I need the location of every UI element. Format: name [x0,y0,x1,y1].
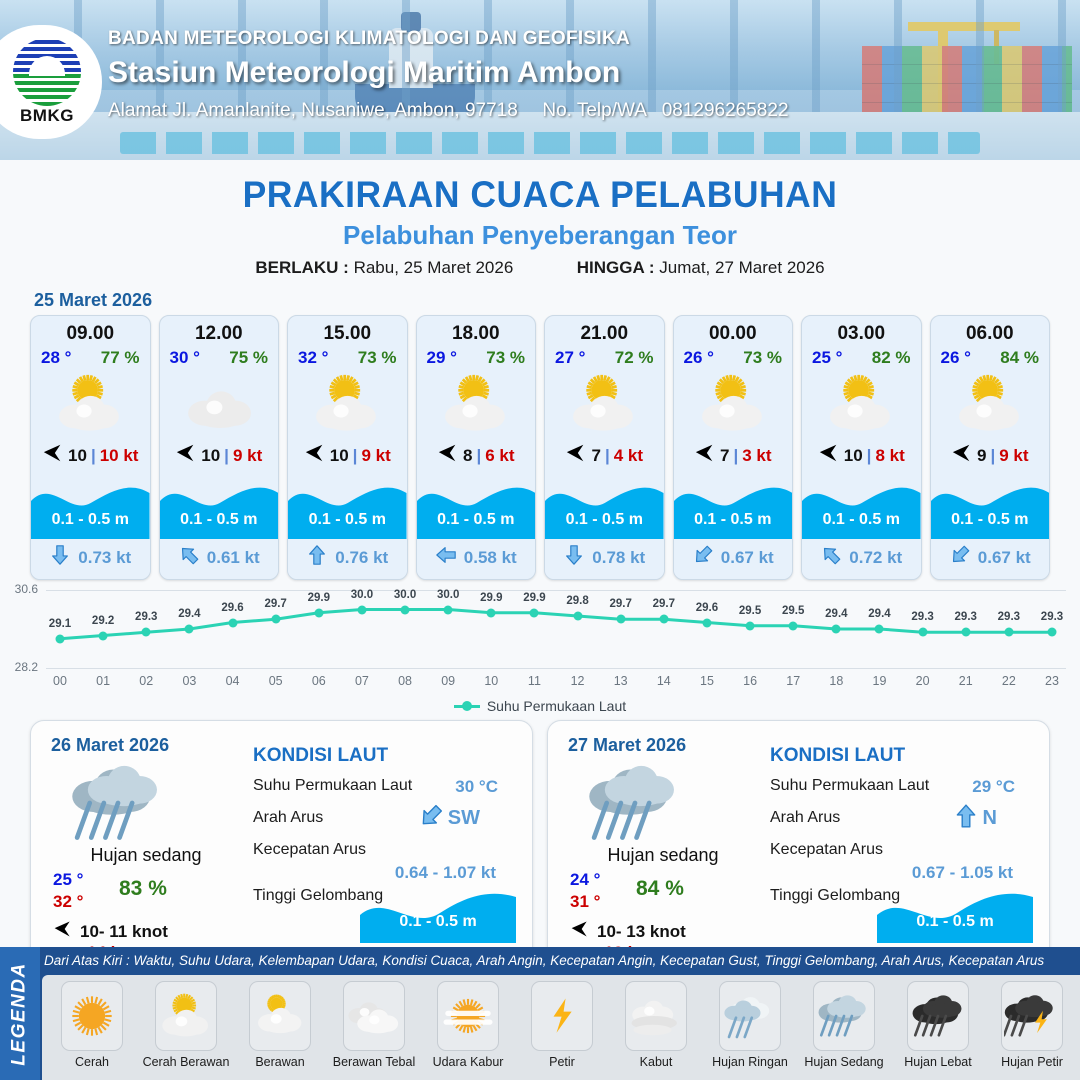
chart-x-tick: 11 [528,674,541,688]
chart-point-label: 29.1 [49,618,71,630]
header-chairs-illustration [120,132,980,154]
card-current-speed: 0.78 kt [592,548,645,568]
title-block: PRAKIRAAN CUACA PELABUHAN Pelabuhan Peny… [0,160,1080,278]
card-wind-separator: | [733,446,738,466]
thunderstorm-icon [1001,981,1063,1051]
arrow-up-left-icon [820,544,842,571]
card-wind-speed: 9 [977,446,986,466]
sst-label: Suhu Permukaan Laut [253,777,412,795]
chart-x-tick: 01 [96,674,110,688]
chart-point-label: 29.9 [523,592,545,604]
haze-icon [437,981,499,1051]
partly-cloudy-icon [931,368,1050,440]
chart-point-label: 29.8 [566,595,588,607]
card-gust-speed: 9 kt [233,446,262,466]
daily-wind-speed: 10- 11 knot [80,922,168,942]
chart-legend-label: Suhu Permukaan Laut [487,698,626,714]
card-time: 18.00 [417,316,536,345]
chart-legend: Suhu Permukaan Laut [0,698,1080,714]
chart-point-label: 29.3 [998,611,1020,623]
chart-data-point [357,605,366,614]
card-gust-speed: 9 kt [361,446,390,466]
moderate-rain-icon [813,981,875,1051]
card-temperature: 29 ° [427,348,457,368]
valid-to-value: Jumat, 27 Maret 2026 [659,258,824,277]
card-wind-speed: 10 [330,446,349,466]
wind-arrow-nw-icon [951,442,973,469]
valid-from-label: BERLAKU : [255,258,349,277]
chart-data-point [789,621,798,630]
daily-wave-band: 0.1 - 0.5 m [360,887,516,943]
chart-x-tick: 07 [355,674,369,688]
card-temperature: 32 ° [298,348,328,368]
card-current-speed: 0.67 kt [978,548,1031,568]
legend-item-label: Petir [549,1055,575,1069]
chart-data-point [1048,628,1057,637]
card-temperature: 26 ° [684,348,714,368]
card-wave-height: 0.1 - 0.5 m [802,511,921,529]
partly-cloudy-icon [417,368,536,440]
page-header: BMKG BADAN METEOROLOGI KLIMATOLOGI DAN G… [0,0,1080,160]
legend-item: Berawan [234,981,326,1069]
card-current-speed: 0.73 kt [78,548,131,568]
legend-note: Dari Atas Kiri : Waktu, Suhu Udara, Kele… [44,953,1074,968]
chart-x-tick: 16 [743,674,757,688]
sea-conditions-title: KONDISI LAUT [253,745,388,767]
chart-x-tick: 20 [916,674,930,688]
card-wind-speed: 7 [720,446,729,466]
partly-cloudy-icon [802,368,921,440]
chart-x-tick: 09 [441,674,455,688]
card-wave-height: 0.1 - 0.5 m [417,511,536,529]
chart-data-point [99,631,108,640]
legend-item-label: Berawan Tebal [333,1055,415,1069]
chart-point-label: 30.0 [437,589,459,601]
card-wave-band: 0.1 - 0.5 m [802,475,921,539]
card-wind-separator: | [476,446,481,466]
chart-x-tick: 12 [571,674,585,688]
chart-x-tick: 22 [1002,674,1016,688]
hourly-card: 09.00 28 ° 77 % 10 | 10 kt 0.1 - 0.5 m 0… [30,315,151,580]
chart-x-tick: 21 [959,674,973,688]
wind-arrow-nw-icon [437,442,459,469]
chart-x-tick: 08 [398,674,412,688]
legend-item: Hujan Sedang [798,981,890,1069]
chart-legend-marker-icon [454,705,480,708]
chart-line [46,590,1066,668]
chart-x-tick: 03 [182,674,196,688]
card-wave-band: 0.1 - 0.5 m [931,475,1050,539]
chart-point-label: 29.3 [1041,611,1063,623]
chart-x-tick: 14 [657,674,671,688]
card-time: 12.00 [160,316,279,345]
card-current-speed: 0.67 kt [721,548,774,568]
legend-item: Kabut [610,981,702,1069]
daily-temp-max: 32 ° [53,891,83,913]
moderate-rain-icon [580,759,690,847]
bmkg-logo-icon: BMKG [0,25,102,139]
card-time: 00.00 [674,316,793,345]
validity-period: BERLAKU : Rabu, 25 Maret 2026 HINGGA : J… [0,258,1080,278]
daily-condition: Hujan sedang [51,845,241,866]
page-subtitle: Pelabuhan Penyeberangan Teor [0,220,1080,251]
sea-conditions-title: KONDISI LAUT [770,745,905,767]
partly-cloudy-icon [155,981,217,1051]
legend-item: Hujan Lebat [892,981,984,1069]
current-direction-value: SW [448,807,480,830]
chart-data-point [918,628,927,637]
cloudy-icon [160,368,279,440]
station-name: Stasiun Meteorologi Maritim Ambon [108,56,789,90]
valid-from-value: Rabu, 25 Maret 2026 [354,258,514,277]
wind-arrow-nw-icon [42,442,64,469]
arrow-up-icon [953,803,979,834]
sst-chart: 30.628.229.10029.20129.30229.40329.60429… [0,580,1080,714]
card-time: 06.00 [931,316,1050,345]
chart-point-label: 29.4 [825,608,847,620]
legend-item: Hujan Ringan [704,981,796,1069]
legend-item: Hujan Petir [986,981,1078,1069]
legend-item: Cerah Berawan [140,981,232,1069]
chart-data-point [961,628,970,637]
legend-item: Petir [516,981,608,1069]
legend-items: Cerah Cerah Berawan Berawan Berawan Teba… [42,975,1080,1080]
card-gust-speed: 6 kt [485,446,514,466]
legend-item-label: Hujan Sedang [804,1055,883,1069]
sst-value: 29 °C [972,777,1015,797]
current-direction-value: N [983,807,997,830]
arrow-down-left-icon [949,544,971,571]
card-gust-speed: 4 kt [614,446,643,466]
wind-arrow-nw-icon [304,442,326,469]
chart-data-point [314,608,323,617]
heavy-rain-icon [907,981,969,1051]
chart-point-label: 29.9 [308,592,330,604]
daily-humidity: 83 % [119,877,167,901]
legend-bar: LEGENDA Dari Atas Kiri : Waktu, Suhu Uda… [0,947,1080,1080]
arrow-up-icon [306,544,328,571]
chart-point-label: 29.2 [92,615,114,627]
chart-y-tick: 30.6 [15,582,38,596]
chart-data-point [659,615,668,624]
card-wave-band: 0.1 - 0.5 m [674,475,793,539]
legend-side-title-text: LEGENDA [9,962,31,1065]
moderate-rain-icon [63,759,173,847]
chart-x-tick: 06 [312,674,326,688]
card-temperature: 28 ° [41,348,71,368]
hourly-card: 15.00 32 ° 73 % 10 | 9 kt 0.1 - 0.5 m 0.… [287,315,408,580]
chart-data-point [875,625,884,634]
legend-item: Udara Kabur [422,981,514,1069]
card-gust-speed: 9 kt [999,446,1028,466]
card-wave-band: 0.1 - 0.5 m [545,475,664,539]
arrow-left-icon [435,544,457,571]
card-humidity: 73 % [358,348,397,368]
chart-point-label: 30.0 [351,589,373,601]
daily-wave-value: 0.1 - 0.5 m [360,913,516,931]
sst-value: 30 °C [455,777,498,797]
card-humidity: 77 % [101,348,140,368]
chart-data-point [444,605,453,614]
card-temperature: 27 ° [555,348,585,368]
legend-item-label: Udara Kabur [433,1055,504,1069]
daily-date: 26 Maret 2026 [51,735,169,756]
card-wave-height: 0.1 - 0.5 m [931,511,1050,529]
chart-point-label: 29.4 [868,608,890,620]
card-wind-speed: 10 [68,446,87,466]
arrow-down-left-icon [692,544,714,571]
daily-wind-speed: 10- 13 knot [597,922,686,942]
wind-arrow-nw-icon [694,442,716,469]
legend-item-label: Kabut [640,1055,673,1069]
chart-point-label: 29.7 [264,598,286,610]
chart-x-tick: 23 [1045,674,1059,688]
partly-cloudy-icon [545,368,664,440]
chart-data-point [56,634,65,643]
chart-point-label: 29.7 [653,598,675,610]
lightning-icon [531,981,593,1051]
sunny-icon [61,981,123,1051]
wind-arrow-nw-icon [175,442,197,469]
chart-data-point [1004,628,1013,637]
sst-label: Suhu Permukaan Laut [770,777,929,795]
card-humidity: 82 % [872,348,911,368]
chart-x-tick: 19 [873,674,887,688]
card-wind-speed: 10 [844,446,863,466]
valid-to-label: HINGGA : [577,258,655,277]
chart-x-tick: 18 [829,674,843,688]
current-speed-value: 0.67 - 1.05 kt [912,863,1013,883]
chart-x-tick: 13 [614,674,628,688]
legend-side-title: LEGENDA [0,947,40,1080]
legend-item-label: Hujan Lebat [904,1055,971,1069]
hourly-card: 12.00 30 ° 75 % 10 | 9 kt 0.1 - 0.5 m 0.… [159,315,280,580]
hourly-forecast-cards: 09.00 28 ° 77 % 10 | 10 kt 0.1 - 0.5 m 0… [0,315,1080,580]
chart-data-point [530,608,539,617]
card-wave-height: 0.1 - 0.5 m [31,511,150,529]
page-title: PRAKIRAAN CUACA PELABUHAN [22,174,1059,216]
light-rain-icon [719,981,781,1051]
partly-cloudy-icon [31,368,150,440]
card-time: 15.00 [288,316,407,345]
chart-x-tick: 05 [269,674,283,688]
card-wind-separator: | [990,446,995,466]
chart-x-tick: 04 [226,674,240,688]
card-current-speed: 0.72 kt [849,548,902,568]
card-wave-height: 0.1 - 0.5 m [288,511,407,529]
card-temperature: 30 ° [170,348,200,368]
daily-temp-min: 25 ° [53,869,83,891]
mostly-cloudy-icon [249,981,311,1051]
chart-x-tick: 15 [700,674,714,688]
legend-item-label: Hujan Ringan [712,1055,788,1069]
daily-wave-band: 0.1 - 0.5 m [877,887,1033,943]
card-wind-separator: | [867,446,872,466]
chart-point-label: 29.7 [609,598,631,610]
card-wind-speed: 7 [591,446,600,466]
card-temperature: 26 ° [941,348,971,368]
card-wave-band: 0.1 - 0.5 m [417,475,536,539]
card-wave-band: 0.1 - 0.5 m [160,475,279,539]
chart-point-label: 29.4 [178,608,200,620]
chart-data-point [142,628,151,637]
card-humidity: 75 % [229,348,268,368]
daily-condition: Hujan sedang [568,845,758,866]
card-time: 21.00 [545,316,664,345]
card-wind-separator: | [91,446,96,466]
card-wave-band: 0.1 - 0.5 m [288,475,407,539]
daily-temp-max: 31 ° [570,891,600,913]
partly-cloudy-icon [288,368,407,440]
chart-data-point [746,621,755,630]
card-current-speed: 0.61 kt [207,548,260,568]
legend-item: Berawan Tebal [328,981,420,1069]
chart-point-label: 29.6 [221,602,243,614]
hourly-date-label: 25 Maret 2026 [34,290,1080,311]
partly-cloudy-icon [674,368,793,440]
agency-name: BADAN METEOROLOGI KLIMATOLOGI DAN GEOFIS… [108,28,789,50]
daily-forecast-panels: 26 Maret 2026 Hujan sedang 25 ° 32 ° 83 … [0,714,1080,962]
chart-point-label: 29.5 [782,605,804,617]
chart-data-point [702,618,711,627]
card-wave-height: 0.1 - 0.5 m [160,511,279,529]
legend-item-label: Berawan [255,1055,304,1069]
card-wave-height: 0.1 - 0.5 m [674,511,793,529]
chart-gridline [46,668,1066,669]
chart-point-label: 29.3 [135,611,157,623]
card-wind-separator: | [224,446,229,466]
card-wind-separator: | [353,446,358,466]
daily-temp-min: 24 ° [570,869,600,891]
phone-number: 081296265822 [662,100,789,121]
daily-wave-value: 0.1 - 0.5 m [877,913,1033,931]
chart-data-point [616,615,625,624]
card-current-speed: 0.58 kt [464,548,517,568]
wind-arrow-nw-icon [565,442,587,469]
card-humidity: 84 % [1000,348,1039,368]
card-gust-speed: 3 kt [742,446,771,466]
chart-data-point [401,605,410,614]
daily-forecast-panel: 26 Maret 2026 Hujan sedang 25 ° 32 ° 83 … [30,720,533,962]
hourly-card: 03.00 25 ° 82 % 10 | 8 kt 0.1 - 0.5 m 0.… [801,315,922,580]
chart-data-point [271,615,280,624]
arrow-down-left-icon [418,803,444,834]
chart-point-label: 29.9 [480,592,502,604]
hourly-card: 06.00 26 ° 84 % 9 | 9 kt 0.1 - 0.5 m 0.6… [930,315,1051,580]
chart-x-tick: 02 [139,674,153,688]
chart-x-tick: 10 [484,674,498,688]
card-time: 03.00 [802,316,921,345]
fog-icon [625,981,687,1051]
chart-data-point [573,612,582,621]
legend-item-label: Cerah [75,1055,109,1069]
daily-humidity: 84 % [636,877,684,901]
chart-data-point [832,625,841,634]
chart-x-tick: 00 [53,674,67,688]
legend-item-label: Cerah Berawan [143,1055,230,1069]
legend-item-label: Hujan Petir [1001,1055,1063,1069]
chart-data-point [228,618,237,627]
chart-x-tick: 17 [786,674,800,688]
card-wind-separator: | [605,446,610,466]
card-wave-band: 0.1 - 0.5 m [31,475,150,539]
current-direction-label: Arah Arus [770,809,840,827]
current-speed-label: Kecepatan Arus [253,841,366,859]
current-speed-value: 0.64 - 1.07 kt [395,863,496,883]
wind-arrow-nw-icon [818,442,840,469]
bmkg-logo-label: BMKG [5,106,89,126]
card-time: 09.00 [31,316,150,345]
card-gust-speed: 8 kt [875,446,904,466]
current-speed-label: Kecepatan Arus [770,841,883,859]
card-humidity: 72 % [615,348,654,368]
chart-point-label: 29.3 [911,611,933,623]
hourly-card: 18.00 29 ° 73 % 8 | 6 kt 0.1 - 0.5 m 0.5… [416,315,537,580]
wind-arrow-nw-icon [53,919,73,944]
arrow-up-left-icon [178,544,200,571]
card-humidity: 73 % [743,348,782,368]
hourly-card: 21.00 27 ° 72 % 7 | 4 kt 0.1 - 0.5 m 0.7… [544,315,665,580]
current-direction-label: Arah Arus [253,809,323,827]
arrow-down-icon [563,544,585,571]
chart-point-label: 29.5 [739,605,761,617]
card-current-speed: 0.76 kt [335,548,388,568]
card-humidity: 73 % [486,348,525,368]
chart-y-tick: 28.2 [15,660,38,674]
daily-date: 27 Maret 2026 [568,735,686,756]
chart-point-label: 29.3 [955,611,977,623]
overcast-icon [343,981,405,1051]
card-wave-height: 0.1 - 0.5 m [545,511,664,529]
card-wind-speed: 8 [463,446,472,466]
chart-data-point [185,625,194,634]
station-address: Alamat Jl. Amanlanite, Nusaniwe, Ambon, … [108,100,518,121]
phone-label: No. Telp/WA [542,100,646,121]
arrow-down-icon [49,544,71,571]
chart-data-point [487,608,496,617]
legend-item: Cerah [46,981,138,1069]
card-temperature: 25 ° [812,348,842,368]
card-wind-speed: 10 [201,446,220,466]
chart-point-label: 29.6 [696,602,718,614]
chart-point-label: 30.0 [394,589,416,601]
wind-arrow-nw-icon [570,919,590,944]
daily-forecast-panel: 27 Maret 2026 Hujan sedang 24 ° 31 ° 84 … [547,720,1050,962]
card-gust-speed: 10 kt [100,446,139,466]
hourly-card: 00.00 26 ° 73 % 7 | 3 kt 0.1 - 0.5 m 0.6… [673,315,794,580]
